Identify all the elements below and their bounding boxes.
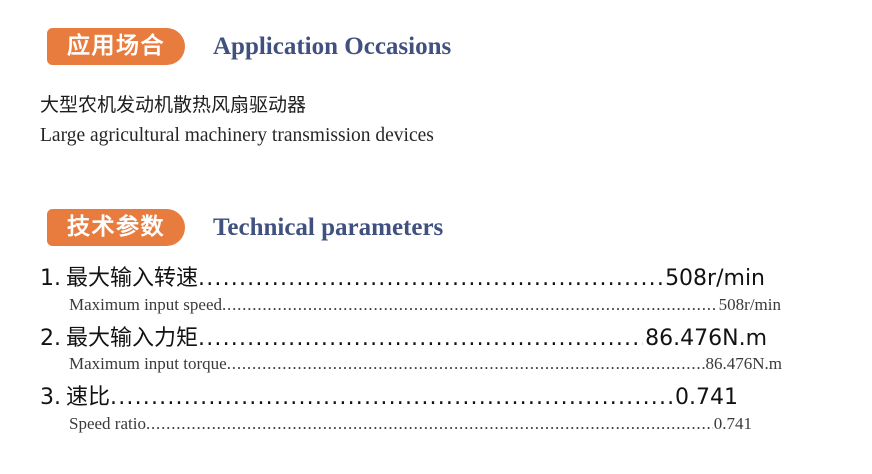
parameter-value-cn: 508r/min	[663, 264, 765, 294]
parameter-label-en: Maximum input speed	[69, 294, 222, 317]
badge-technical-cn: 技术参数	[47, 209, 185, 246]
section-header-technical: 技术参数 Technical parameters	[47, 209, 443, 246]
parameter-number: 3.	[40, 383, 61, 413]
dot-leader	[227, 353, 705, 376]
section-title-technical-en: Technical parameters	[213, 214, 443, 242]
parameter-row-en: Maximum input speed 508r/min	[40, 294, 781, 317]
parameter-value-en: 508r/min	[718, 294, 781, 317]
parameter-row-cn: 3. 速比 0.741	[40, 383, 738, 413]
parameter-value-en: 0.741	[713, 413, 752, 436]
dot-leader	[110, 383, 673, 413]
section-header-application: 应用场合 Application Occasions	[47, 28, 451, 65]
parameter-value-en: 86.476N.m	[705, 353, 783, 376]
parameter-label-cn: 最大输入力矩	[66, 324, 198, 354]
parameter-row-en: Maximum input torque 86.476N.m	[40, 353, 782, 376]
parameter-item: 1. 最大输入转速 508r/min Maximum input speed 5…	[40, 264, 830, 317]
dot-leader	[146, 413, 713, 436]
application-description-en: Large agricultural machinery transmissio…	[40, 122, 434, 149]
dot-leader	[198, 264, 663, 294]
technical-parameter-list: 1. 最大输入转速 508r/min Maximum input speed 5…	[40, 264, 830, 443]
parameter-label-en: Speed ratio	[69, 413, 146, 436]
parameter-row-en: Speed ratio 0.741	[40, 413, 752, 436]
parameter-number: 1.	[40, 264, 61, 294]
parameter-label-cn: 最大输入转速	[66, 264, 198, 294]
badge-application-cn: 应用场合	[47, 28, 185, 65]
parameter-label-en: Maximum input torque	[69, 353, 227, 376]
parameter-item: 2. 最大输入力矩 86.476N.m Maximum input torque…	[40, 324, 830, 377]
parameter-row-cn: 1. 最大输入转速 508r/min	[40, 264, 765, 294]
parameter-item: 3. 速比 0.741 Speed ratio 0.741	[40, 383, 830, 436]
parameter-label-cn: 速比	[66, 383, 110, 413]
application-description: 大型农机发动机散热风扇驱动器 Large agricultural machin…	[40, 92, 434, 149]
dot-leader	[222, 294, 718, 317]
parameter-value-cn: 86.476N.m	[643, 324, 767, 354]
dot-leader	[198, 324, 643, 354]
parameter-row-cn: 2. 最大输入力矩 86.476N.m	[40, 324, 767, 354]
application-description-cn: 大型农机发动机散热风扇驱动器	[40, 92, 434, 120]
section-title-application-en: Application Occasions	[213, 33, 451, 61]
parameter-value-cn: 0.741	[673, 383, 738, 413]
parameter-number: 2.	[40, 324, 61, 354]
